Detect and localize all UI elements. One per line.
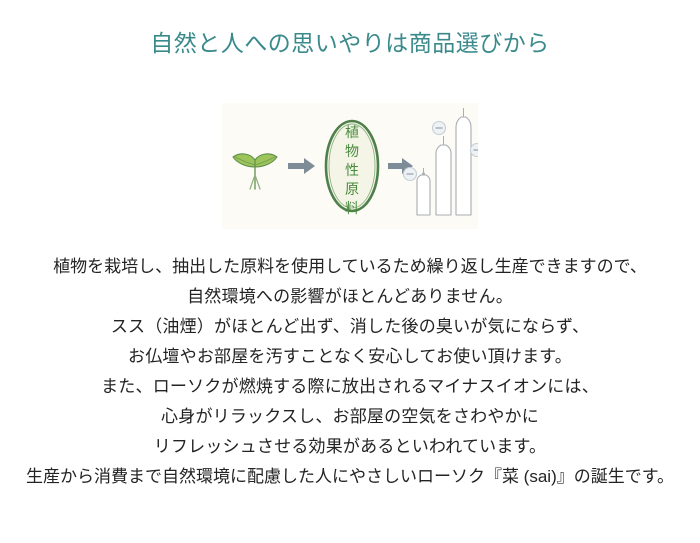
oval-char-1: 植 <box>345 124 359 140</box>
body-line-6: 心身がリラックスし、お部屋の空気をさわやかに <box>0 402 700 432</box>
negative-ion-icon-1 <box>404 168 417 181</box>
oval-char-4: 原 <box>345 181 359 197</box>
product-description-page: 自然と人への思いやりは商品選びから <box>0 0 700 543</box>
body-text-block: 植物を栽培し、抽出した原料を使用しているため繰り返し生産できますので、 自然環境… <box>0 252 700 492</box>
diagram-svg: 植 物 性 原 料 <box>222 103 478 229</box>
oval-char-2: 物 <box>345 143 359 159</box>
body-line-4: お仏壇やお部屋を汚すことなく安心してお使い頂けます。 <box>0 342 700 372</box>
body-line-2: 自然環境への影響がほとんどありません。 <box>0 282 700 312</box>
negative-ion-icon-3 <box>471 144 479 157</box>
page-title: 自然と人への思いやりは商品選びから <box>0 27 700 59</box>
body-line-5: また、ローソクが燃焼する際に放出されるマイナスイオンには、 <box>0 372 700 402</box>
production-flow-diagram: 植 物 性 原 料 <box>222 103 478 229</box>
body-line-3: スス（油煙）がほとんど出ず、消した後の臭いが気にならず、 <box>0 312 700 342</box>
candle-tall <box>456 108 471 215</box>
negative-ion-icon-2 <box>433 122 446 135</box>
body-line-7: リフレッシュさせる効果があるといわれています。 <box>0 432 700 462</box>
oval-char-3: 性 <box>345 162 359 178</box>
body-line-1: 植物を栽培し、抽出した原料を使用しているため繰り返し生産できますので、 <box>0 252 700 282</box>
candle-medium <box>436 136 451 215</box>
body-line-8: 生産から消費まで自然環境に配慮した人にやさしいローソク『菜 (sai)』の誕生で… <box>0 462 700 492</box>
oval-char-5: 料 <box>345 200 359 216</box>
